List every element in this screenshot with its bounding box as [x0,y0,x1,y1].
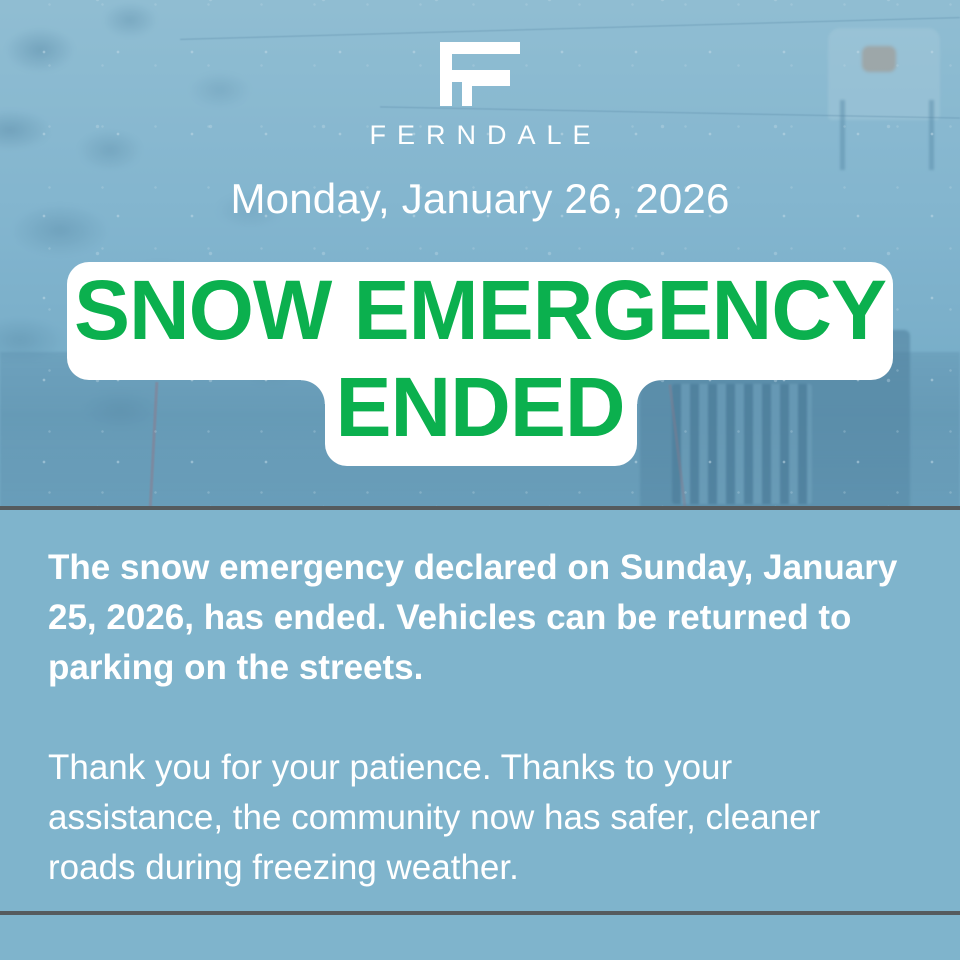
body-paragraph-primary: The snow emergency declared on Sunday, J… [48,543,904,693]
body-region: The snow emergency declared on Sunday, J… [0,510,960,911]
snow-emergency-poster: FERNDALE Monday, January 26, 2026 SNOW E… [0,0,960,960]
ferndale-f-logo-icon [432,38,528,110]
body-paragraph-secondary: Thank you for your patience. Thanks to y… [48,743,904,893]
brand-logo-block: FERNDALE [0,38,960,149]
poster-date: Monday, January 26, 2026 [0,176,960,222]
body-text-block: The snow emergency declared on Sunday, J… [48,543,904,893]
brand-wordmark: FERNDALE [0,122,960,149]
paragraph-spacer [48,693,904,743]
divider-bottom [0,911,960,915]
